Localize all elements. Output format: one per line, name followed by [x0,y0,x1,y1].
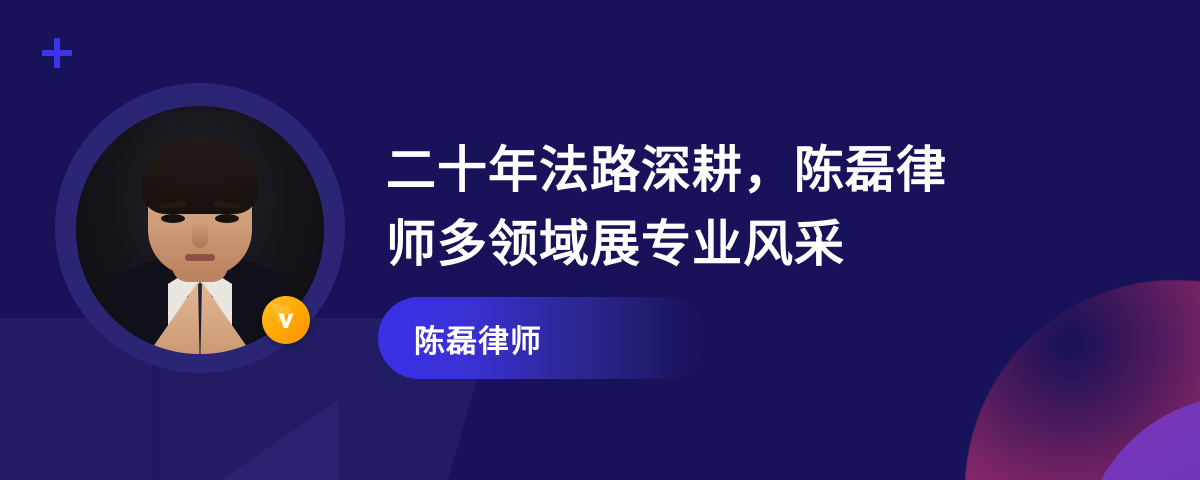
verified-badge-icon [262,296,310,344]
lawyer-name-pill[interactable]: 陈磊律师 [378,297,708,379]
check-v-glyph [273,307,299,333]
page-title: 二十年法路深耕，陈磊律 师多领域展专业风采 [386,133,1086,281]
plus-icon [42,38,72,68]
portrait-eye-right [215,214,239,223]
portrait-mouth [185,254,215,261]
portrait-eye-left [161,214,185,223]
promo-banner: 二十年法路深耕，陈磊律 师多领域展专业风采 陈磊律师 [0,0,1200,480]
decorative-left-triangle [148,400,338,480]
lawyer-name-label: 陈磊律师 [414,316,542,361]
portrait-nose [192,224,208,248]
